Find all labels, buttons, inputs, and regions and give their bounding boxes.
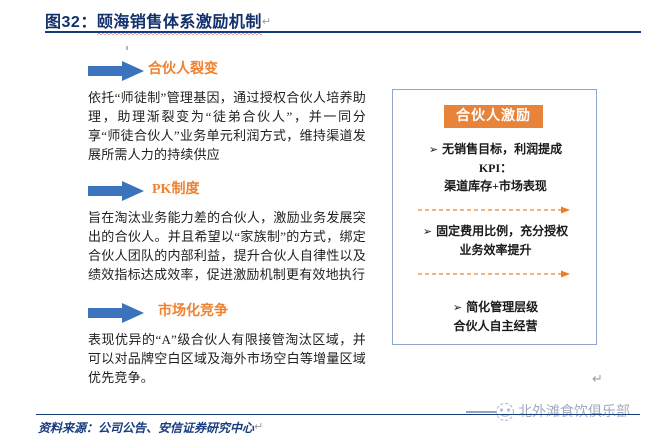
chevron-bullet-icon: ➢ — [423, 225, 432, 238]
chevron-bullet-icon: ➢ — [453, 301, 462, 314]
pilcrow-icon: ↵ — [262, 15, 272, 28]
block-heading: 市场化竞争 — [158, 300, 228, 320]
title-divider — [45, 31, 641, 33]
page-title: 图32：颐海销售体系激励机制↵ — [45, 8, 272, 32]
club-logo-icon — [494, 401, 516, 423]
block-heading: 合伙人裂变 — [148, 58, 218, 78]
stray-mark — [126, 46, 128, 50]
pilcrow-icon: ↵ — [254, 420, 263, 433]
panel-item-line1: 无销售目标，利润提成 — [442, 142, 562, 156]
block-body-text: 旨在淘汰业务能力差的合伙人，激励业务发展突出的合伙人。并且希望以“家族制”的方式… — [88, 208, 366, 284]
watermark-rule — [466, 411, 496, 413]
panel-item-line1: 简化管理层级 — [466, 300, 538, 314]
right-block-arrow-icon — [88, 181, 144, 201]
block-header-row: PK制度 — [88, 178, 366, 204]
pilcrow-icon: ↵ — [592, 372, 603, 387]
panel-item-line2: KPI： — [401, 159, 590, 177]
figure-label: 图 — [45, 14, 62, 31]
block-header-row: 合伙人裂变 — [88, 58, 366, 84]
dashed-arrow-divider-icon — [418, 206, 573, 214]
incentive-panel: 合伙人激励 ➢无销售目标，利润提成 KPI： 渠道库存+市场表现 ➢固定费用比例… — [392, 89, 597, 345]
content-block-market-competition: 市场化竞争 表现优异的“A”级合伙人有限接管淘汰区域，并可以对品牌空白区域及海外… — [88, 300, 366, 387]
panel-item: ➢固定费用比例，充分授权 业务效率提升 — [401, 222, 590, 259]
panel-item-line2: 业务效率提升 — [401, 241, 590, 259]
content-block-pk-system: PK制度 旨在淘汰业务能力差的合伙人，激励业务发展突出的合伙人。并且希望以“家族… — [88, 178, 366, 284]
block-body-text: 依托“师徒制”管理基因，通过授权合伙人培养助理，助理渐裂变为“徒弟合伙人”，并一… — [88, 88, 366, 164]
panel-title: 合伙人激励 — [444, 105, 543, 128]
figure-name: 颐海销售体系激励机制 — [97, 8, 262, 32]
dashed-arrow-divider-icon — [418, 270, 573, 278]
block-heading: PK制度 — [152, 178, 199, 198]
chevron-bullet-icon: ➢ — [429, 143, 438, 156]
source-note-text: 资料来源：公司公告、安信证券研究中心 — [38, 421, 254, 435]
content-block-partner-fission: 合伙人裂变 依托“师徒制”管理基因，通过授权合伙人培养助理，助理渐裂变为“徒弟合… — [88, 58, 366, 164]
block-body-text: 表现优异的“A”级合伙人有限接管淘汰区域，并可以对品牌空白区域及海外市场空白等增… — [88, 330, 366, 387]
panel-item: ➢简化管理层级 合伙人自主经营 — [401, 298, 590, 335]
watermark: 北外滩食饮俱乐部 — [466, 398, 666, 426]
watermark-text: 北外滩食饮俱乐部 — [518, 401, 630, 421]
right-block-arrow-icon — [88, 61, 144, 81]
source-note: 资料来源：公司公告、安信证券研究中心↵ — [38, 419, 263, 436]
panel-item-line1: 固定费用比例，充分授权 — [436, 224, 568, 238]
right-block-arrow-icon — [88, 303, 144, 323]
panel-item-line3: 渠道库存+市场表现 — [401, 177, 590, 195]
block-header-row: 市场化竞争 — [88, 300, 366, 326]
panel-item-line2: 合伙人自主经营 — [401, 317, 590, 335]
figure-number: 32 — [62, 14, 81, 31]
figure-separator: ： — [80, 14, 97, 31]
panel-item: ➢无销售目标，利润提成 KPI： 渠道库存+市场表现 — [401, 140, 590, 195]
